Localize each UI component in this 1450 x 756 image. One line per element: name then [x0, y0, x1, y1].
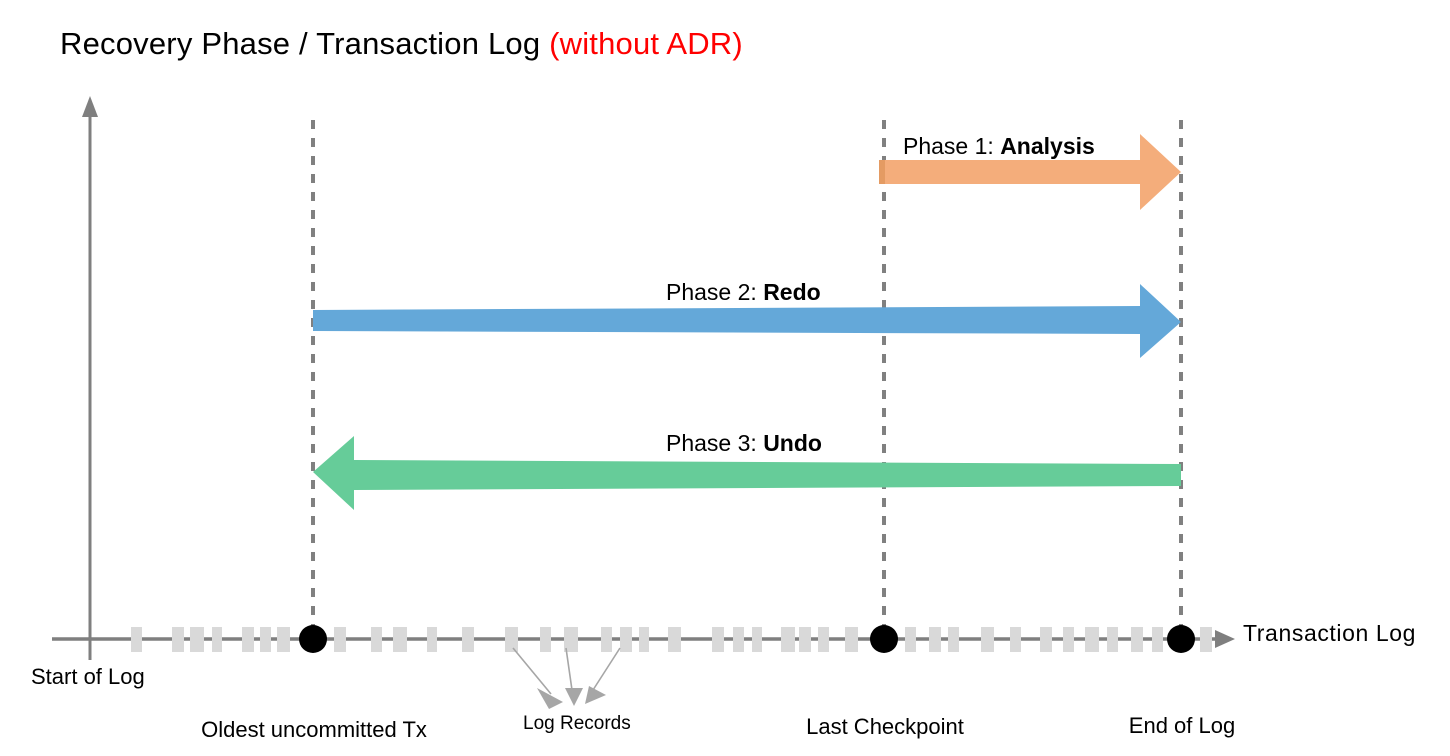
phase2-name: Redo: [763, 279, 821, 305]
diagram-canvas: Recovery Phase / Transaction Log (withou…: [0, 0, 1450, 756]
phase3-name: Undo: [763, 430, 822, 456]
guide-lines: [313, 120, 1181, 638]
phase2-prefix: Phase 2:: [666, 279, 763, 305]
marker-end-of-log: [1167, 625, 1195, 653]
phase3-prefix: Phase 3:: [666, 430, 763, 456]
phase1-label: Phase 1: Analysis: [903, 133, 1095, 160]
y-axis: [82, 96, 98, 660]
marker-label-last-checkpoint-line1: Last Checkpoint: [790, 714, 980, 740]
log-records-callout-arrows: [513, 648, 620, 709]
marker-label-oldest-tx: Oldest uncommitted Tx (XACT_BEGIN_LSN): [193, 661, 435, 756]
marker-label-last-checkpoint: Last Checkpoint (or oldest dirty page LS…: [790, 661, 980, 756]
log-records-callout-label: Log Records: [523, 713, 631, 735]
marker-last-checkpoint: [870, 625, 898, 653]
axis-start-label: Start of Log: [31, 664, 145, 690]
phase1-prefix: Phase 1:: [903, 133, 1000, 159]
marker-oldest-tx: [299, 625, 327, 653]
diagram-graphics: [0, 0, 1450, 756]
phase1-name: Analysis: [1000, 133, 1095, 159]
phase3-label: Phase 3: Undo: [666, 430, 822, 457]
marker-label-end-of-log: End of Log: [1122, 661, 1242, 756]
axis-name-label: Transaction Log: [1243, 620, 1416, 647]
phase2-label: Phase 2: Redo: [666, 279, 821, 306]
marker-label-end-of-log-line1: End of Log: [1122, 713, 1242, 739]
marker-label-oldest-tx-line1: Oldest uncommitted Tx: [193, 716, 435, 743]
